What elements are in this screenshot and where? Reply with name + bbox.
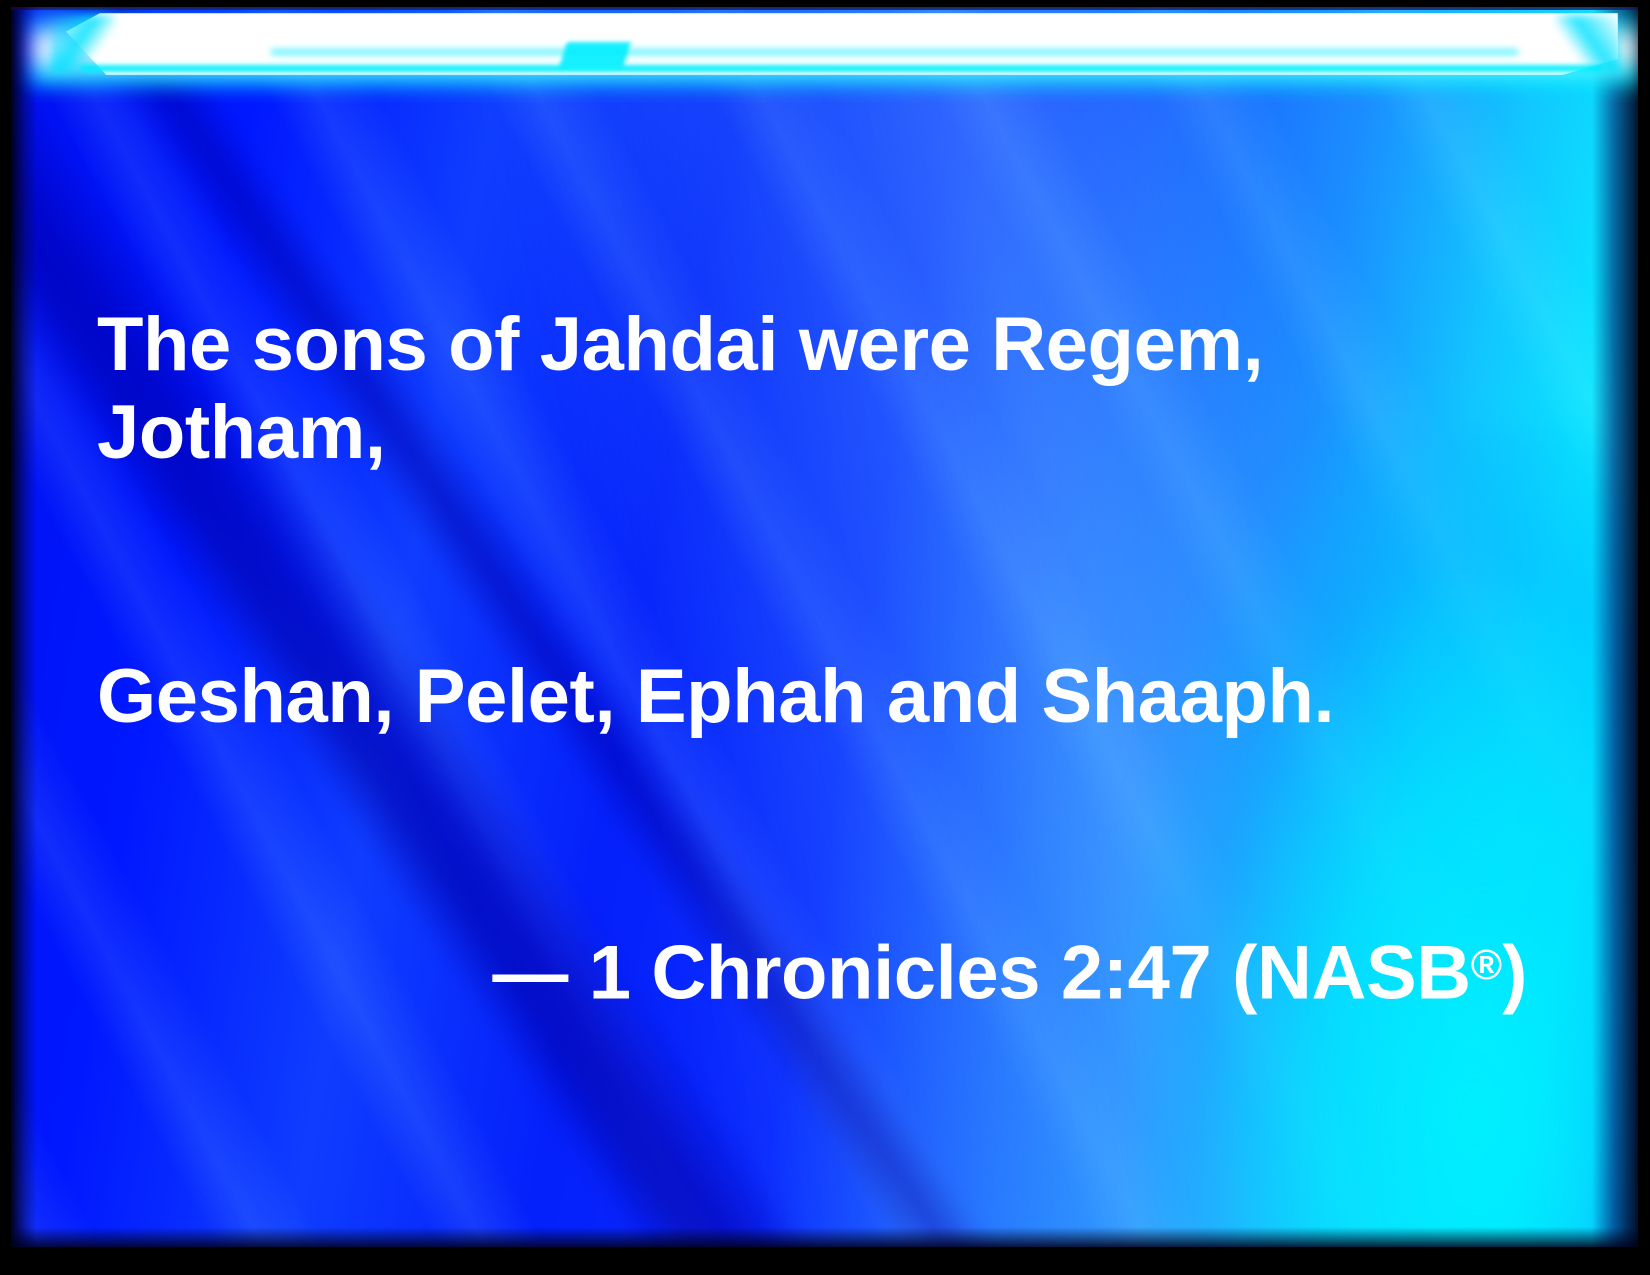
attribution-spacer-3 bbox=[1211, 931, 1232, 1016]
background-right-edge-shade bbox=[1592, 7, 1638, 1247]
top-cyan-inner-line bbox=[271, 49, 1518, 55]
verse-text-block: The sons of Jahdai were Regem, Jotham, G… bbox=[97, 125, 1537, 1194]
background-bottom-edge-shade bbox=[11, 1227, 1638, 1247]
attribution-dash: — bbox=[492, 931, 568, 1016]
attribution-translation: (NASB bbox=[1232, 931, 1471, 1016]
verse-attribution: — 1 Chronicles 2:47 (NASB®) bbox=[97, 921, 1537, 1018]
attribution-chapter-verse: 2:47 bbox=[1061, 931, 1212, 1016]
attribution-spacer-2 bbox=[1040, 931, 1061, 1016]
attribution-close-paren: ) bbox=[1502, 931, 1527, 1016]
top-bar-left-corner-glow bbox=[51, 15, 115, 73]
top-glow-bar bbox=[11, 7, 1638, 103]
background-left-edge-shade bbox=[11, 7, 37, 1247]
attribution-book: 1 Chronicles bbox=[589, 931, 1040, 1016]
attribution-spacer-1 bbox=[568, 931, 589, 1016]
verse-line-2: Geshan, Pelet, Ephah and Shaaph. bbox=[97, 653, 1537, 741]
top-bar-right-corner-glow bbox=[1556, 15, 1620, 73]
top-cyan-underline bbox=[81, 65, 1602, 72]
verse-slide: The sons of Jahdai were Regem, Jotham, G… bbox=[0, 0, 1650, 1275]
verse-line-1: The sons of Jahdai were Regem, Jotham, bbox=[97, 301, 1537, 477]
registered-trademark-icon: ® bbox=[1471, 941, 1502, 989]
slide-canvas: The sons of Jahdai were Regem, Jotham, G… bbox=[11, 7, 1638, 1247]
